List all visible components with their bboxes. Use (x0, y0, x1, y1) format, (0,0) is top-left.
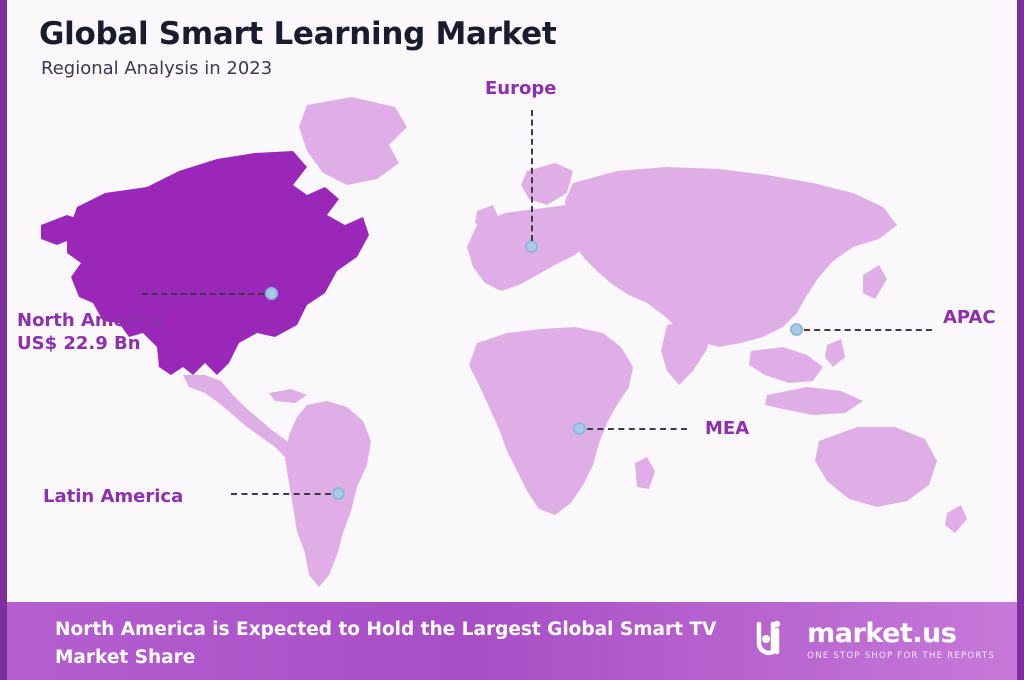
brand-name: market.us (807, 620, 995, 647)
region-caribbean (269, 389, 307, 403)
region-australia[interactable] (815, 427, 937, 507)
brand-tagline: ONE STOP SHOP FOR THE REPORTS (807, 652, 995, 661)
region-india (661, 319, 711, 385)
brand-lockup[interactable]: market.us ONE STOP SHOP FOR THE REPORTS (753, 618, 995, 662)
region-scandinavia (521, 163, 573, 205)
marker-latin-america[interactable] (332, 487, 345, 500)
footer-caption: North America is Expected to Hold the La… (55, 616, 735, 672)
leader-latin-america (231, 493, 331, 495)
marker-mea[interactable] (573, 422, 586, 435)
label-mea: MEA (705, 418, 749, 441)
leader-north-america (142, 293, 264, 295)
label-apac-name: APAC (943, 307, 996, 328)
region-africa[interactable] (469, 327, 633, 515)
label-latin-america-name: Latin America (43, 486, 183, 507)
label-apac: APAC (943, 307, 996, 330)
region-greenland (299, 97, 407, 185)
label-europe-name: Europe (485, 78, 556, 99)
footer-bar: North America is Expected to Hold the La… (7, 602, 1024, 680)
region-new-zealand (945, 505, 967, 533)
region-asia[interactable] (565, 167, 897, 347)
marker-europe[interactable] (525, 240, 538, 253)
leader-mea (587, 428, 687, 430)
region-indonesia (765, 387, 863, 415)
marker-north-america[interactable] (265, 287, 278, 300)
marker-apac[interactable] (790, 323, 803, 336)
label-latin-america: Latin America (43, 486, 183, 509)
map-landmasses (41, 97, 967, 587)
leader-europe (531, 110, 533, 241)
label-mea-name: MEA (705, 418, 749, 439)
region-japan (863, 265, 887, 299)
region-madagascar (635, 457, 655, 489)
region-central-america (183, 375, 297, 459)
label-europe: Europe (485, 78, 556, 101)
infographic-page: Global Smart Learning Market Regional An… (0, 0, 1024, 680)
page-title: Global Smart Learning Market (39, 16, 556, 52)
region-philippines (825, 339, 845, 367)
region-southeast-asia (749, 347, 823, 383)
leader-apac (804, 329, 932, 331)
label-north-america: North America US$ 22.9 Bn (17, 310, 164, 355)
label-north-america-value: US$ 22.9 Bn (17, 333, 141, 354)
label-north-america-name: North America (17, 310, 164, 331)
market-us-logo-icon (753, 618, 797, 662)
